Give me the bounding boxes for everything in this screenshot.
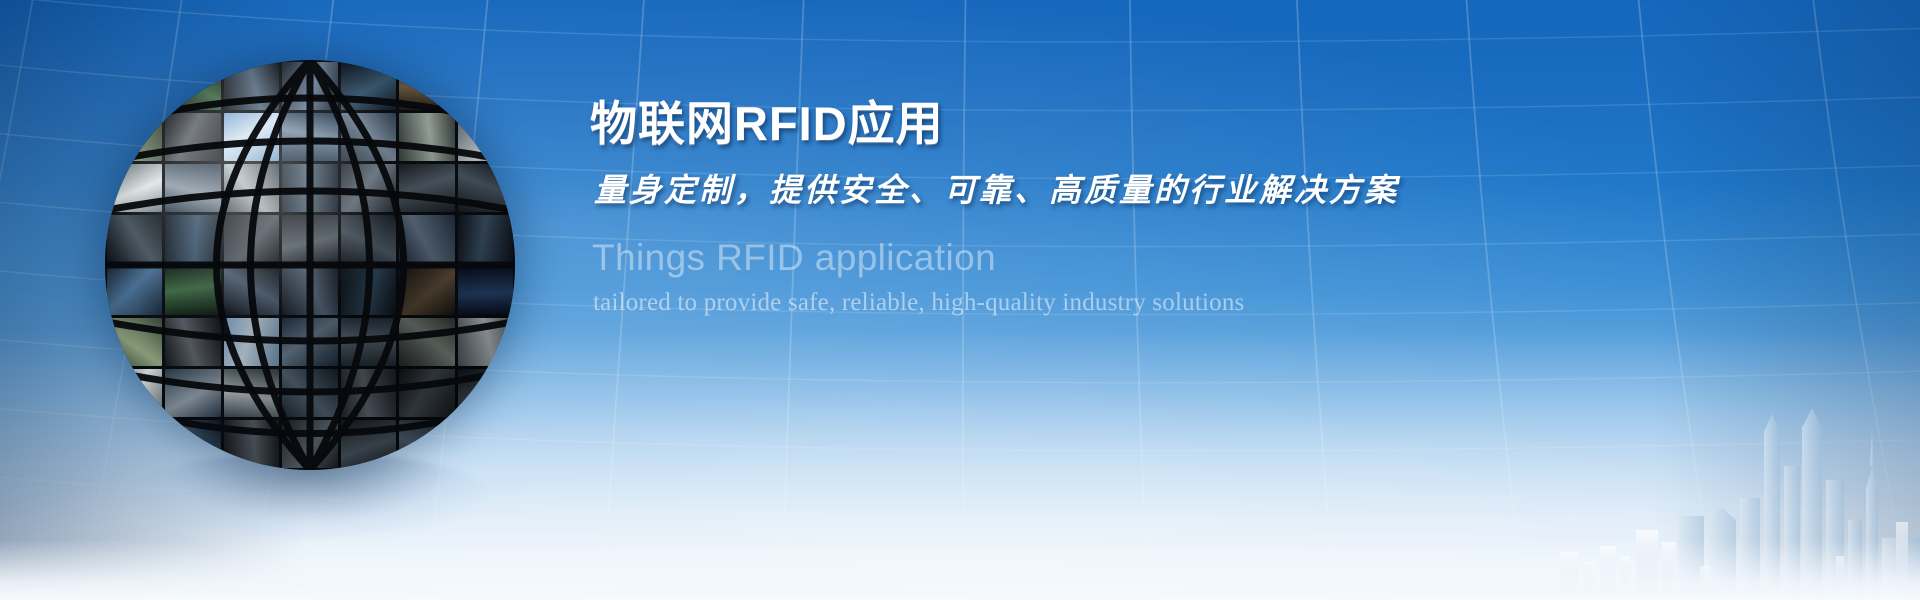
globe-tile-warehouse-aisle (399, 318, 454, 366)
banner-copy: 物联网RFID应用 量身定制，提供安全、可靠、高质量的行业解决方案 Things… (590, 98, 1790, 317)
globe-tile-data-center (165, 420, 220, 468)
banner-subtitle-cn: 量身定制，提供安全、可靠、高质量的行业解决方案 (594, 165, 1790, 211)
globe-tile-factory-floor (341, 420, 396, 468)
globe-tile-sensor-array (224, 215, 279, 263)
globe-tile-circuit-board (165, 62, 220, 110)
globe-tile-barcode-scan (107, 420, 162, 468)
globe-tile-container-port (399, 215, 454, 263)
globe-tile-metro-train (282, 215, 337, 263)
globe-tile-solar-panels (107, 62, 162, 110)
globe-tile-harbor-cranes (282, 113, 337, 161)
globe-tile-highway-traffic (107, 113, 162, 161)
globe-tile-night-city (458, 62, 513, 110)
globe-tile-logistics-truck (341, 369, 396, 417)
globe-tile-logistics-truck (341, 164, 396, 212)
globe-tile-rfid-tag (458, 164, 513, 212)
globe-tile-cables (341, 267, 396, 315)
globe-tile-server-rack (224, 267, 279, 315)
globe-tile-microchip (282, 267, 337, 315)
globe-tile-highway-traffic (107, 318, 162, 366)
globe-tile-smart-grid (458, 215, 513, 263)
globe-tile-power-plant (458, 113, 513, 161)
globe-tile-aerial-city (341, 318, 396, 366)
iot-globe (105, 60, 515, 470)
globe-tile-railway-track (399, 164, 454, 212)
banner-title: 物联网RFID应用 (590, 98, 1790, 151)
globe-tile-bus-fleet (165, 369, 220, 417)
globe-tile-container-port (399, 420, 454, 468)
globe-tile-factory-floor (341, 215, 396, 263)
globe-tile-cables (341, 62, 396, 110)
globe-tile-data-center (165, 215, 220, 263)
globe-tile-bus-fleet (165, 164, 220, 212)
ground-fade (0, 540, 1920, 600)
globe-tile-city-traffic (224, 164, 279, 212)
banner-subtitle-en-primary: Things RFID application (592, 239, 1790, 278)
globe-tile-circuit-board (165, 267, 220, 315)
globe-tile-metro-train (282, 420, 337, 468)
globe-tile-rfid-tag (458, 369, 513, 417)
globe-tile-car-interior (165, 113, 220, 161)
globe-tile-shipping-yard (282, 369, 337, 417)
globe-tile-railway-track (399, 369, 454, 417)
globe-tile-harbor-cranes (282, 318, 337, 366)
hero-banner: 物联网RFID应用 量身定制，提供安全、可靠、高质量的行业解决方案 Things… (0, 0, 1920, 600)
globe-tile-solar-panels (107, 267, 162, 315)
globe-tile-machinery (399, 62, 454, 110)
globe-tile-night-city (458, 267, 513, 315)
banner-subtitle-en-secondary: tailored to provide safe, reliable, high… (593, 289, 1790, 317)
globe-tile-cooling-tower (107, 164, 162, 212)
globe-tile-aerial-city (341, 113, 396, 161)
globe-tile-machinery (399, 267, 454, 315)
globe-tile-wind-turbine (224, 318, 279, 366)
globe-tile-server-rack (224, 62, 279, 110)
globe-tile-barcode-scan (107, 215, 162, 263)
globe-tile-smart-grid (458, 420, 513, 468)
globe-tile-power-plant (458, 318, 513, 366)
globe-tile-microchip (282, 62, 337, 110)
city-skyline-silhouette (1400, 370, 1920, 600)
globe-tile-shipping-yard (282, 164, 337, 212)
horizon-treeline (0, 560, 1920, 600)
globe-tile-sensor-array (224, 420, 279, 468)
globe-tile-car-interior (165, 318, 220, 366)
globe-tile-city-traffic (224, 369, 279, 417)
globe-image-tiles (105, 60, 515, 470)
globe-tile-warehouse-aisle (399, 113, 454, 161)
globe-tile-wind-turbine (224, 113, 279, 161)
globe-tile-cooling-tower (107, 369, 162, 417)
